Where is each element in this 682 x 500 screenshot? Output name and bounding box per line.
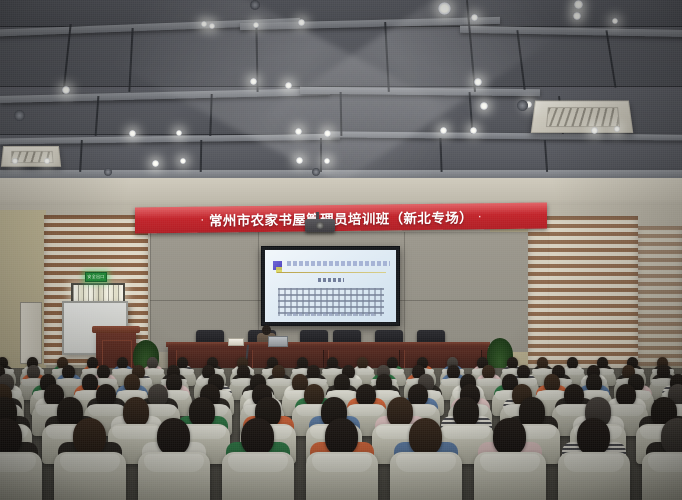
audience-person-head xyxy=(564,384,584,406)
downlight-28 xyxy=(324,158,330,164)
downlight-3 xyxy=(201,21,207,27)
audience-seat xyxy=(558,452,630,500)
seat-headrest xyxy=(608,405,645,416)
audience-person-head xyxy=(189,397,215,426)
banner-dot-right: · xyxy=(473,210,487,223)
seat-headrest xyxy=(228,454,288,472)
slide-footer-text xyxy=(287,313,376,316)
downlight-2 xyxy=(298,19,305,26)
downlight-16 xyxy=(176,130,182,136)
audience-seat xyxy=(642,452,682,500)
audience-person-head xyxy=(409,418,442,455)
seat-headrest xyxy=(476,379,501,386)
podium-top xyxy=(92,326,140,333)
downlight-15 xyxy=(129,130,136,137)
audience-person-head xyxy=(166,374,182,392)
downlight-4 xyxy=(253,22,259,28)
audience-seat xyxy=(306,452,378,500)
slide-surface xyxy=(265,250,396,322)
audience-person-head xyxy=(356,384,376,406)
downlight-25 xyxy=(152,160,159,167)
audience-person-head xyxy=(304,384,324,406)
audience-person-head xyxy=(124,374,140,392)
event-banner: · 常州市农家书屋管理员培训班（新北专场） · xyxy=(135,202,547,233)
ceiling-speaker-4 xyxy=(312,168,320,176)
seat-headrest xyxy=(480,454,540,472)
audience-person-head xyxy=(241,418,274,455)
name-card xyxy=(228,338,244,346)
slide-title-text xyxy=(287,261,390,266)
downlight-19 xyxy=(440,127,447,134)
ceiling-speaker-0 xyxy=(250,0,260,10)
ceiling-speaker-1 xyxy=(14,110,25,121)
audience-person-head xyxy=(493,418,526,455)
downlight-8 xyxy=(62,86,70,94)
audience-person-head xyxy=(376,374,392,392)
audience-seat xyxy=(390,452,462,500)
downlight-22 xyxy=(614,126,620,132)
ac-vent-left xyxy=(1,146,61,167)
banner-title: 常州市农家书屋管理员培训班（新北专场） xyxy=(209,206,473,229)
audience-person-head xyxy=(387,397,413,426)
audience-person-head xyxy=(325,418,358,455)
audience-person-head xyxy=(453,397,479,426)
conference-hall-photo: 安全出口 · 常州市农家书屋管理员培训班（新北专场） · xyxy=(0,0,682,500)
seat-headrest xyxy=(348,405,385,416)
audience-seat xyxy=(138,452,210,500)
ceiling xyxy=(0,0,682,186)
audience-person-head xyxy=(616,384,636,406)
exit-sign-label: 安全出口 xyxy=(87,275,104,279)
wall-stripe-panel-right xyxy=(528,216,638,368)
seat-headrest xyxy=(112,426,159,440)
audience-seat xyxy=(474,452,546,500)
audience-person-head xyxy=(148,384,168,406)
downlight-10 xyxy=(250,78,257,85)
audience-person-head xyxy=(334,374,350,392)
projection-screen xyxy=(261,246,400,326)
audience-seat xyxy=(0,452,42,500)
ceiling-speaker-2 xyxy=(104,168,112,176)
audience-person-head xyxy=(73,418,106,455)
audience-person-head xyxy=(157,418,190,455)
speaker-laptop xyxy=(268,336,288,347)
exit-sign: 安全出口 xyxy=(85,272,107,282)
seat-headrest xyxy=(0,454,36,472)
projector-lens xyxy=(316,222,324,229)
downlight-26 xyxy=(180,158,186,164)
seat-headrest xyxy=(442,426,489,440)
slide-heading-text xyxy=(318,278,344,282)
downlight-27 xyxy=(296,157,303,164)
downlight-18 xyxy=(324,130,331,137)
audience-person-head xyxy=(577,418,610,455)
seat-headrest xyxy=(60,454,120,472)
seat-headrest xyxy=(648,454,682,472)
downlight-23 xyxy=(12,158,18,164)
audience-person-head xyxy=(519,397,545,426)
speaker-head xyxy=(262,325,271,335)
downlight-5 xyxy=(471,14,478,21)
audience-person-head xyxy=(586,374,602,392)
wall-stripe-panel-farright xyxy=(638,226,682,366)
downlight-9 xyxy=(209,23,215,29)
clerestory-window xyxy=(71,283,125,303)
audience-seat xyxy=(222,452,294,500)
seat-headrest xyxy=(312,454,372,472)
slide-body-text xyxy=(278,288,384,316)
downlight-11 xyxy=(285,82,292,89)
downlight-6 xyxy=(573,12,581,20)
downlight-12 xyxy=(474,78,482,86)
downlight-7 xyxy=(612,18,618,24)
audience-person-head xyxy=(0,418,22,455)
downlight-0 xyxy=(438,2,451,15)
downlight-21 xyxy=(591,127,598,134)
side-door xyxy=(20,302,42,364)
audience-person-head xyxy=(661,418,682,455)
downlight-13 xyxy=(480,102,488,110)
audience-seat xyxy=(54,452,126,500)
audience-person-head xyxy=(123,397,149,426)
seat-headrest xyxy=(144,454,204,472)
slide-divider xyxy=(277,272,386,273)
downlight-24 xyxy=(44,158,50,164)
banner-dot-left: · xyxy=(195,213,209,226)
audience-person-head xyxy=(82,374,98,392)
ceiling-projector xyxy=(305,219,335,232)
downlight-1 xyxy=(574,0,583,9)
audience-person-head xyxy=(544,374,560,392)
downlight-17 xyxy=(295,128,302,135)
seat-headrest xyxy=(396,454,456,472)
seat-headrest xyxy=(88,405,125,416)
downlight-20 xyxy=(470,127,477,134)
ceiling-speaker-3 xyxy=(517,100,528,111)
audience-person-head xyxy=(96,384,116,406)
seat-headrest xyxy=(564,454,624,472)
seat-headrest xyxy=(266,379,291,386)
